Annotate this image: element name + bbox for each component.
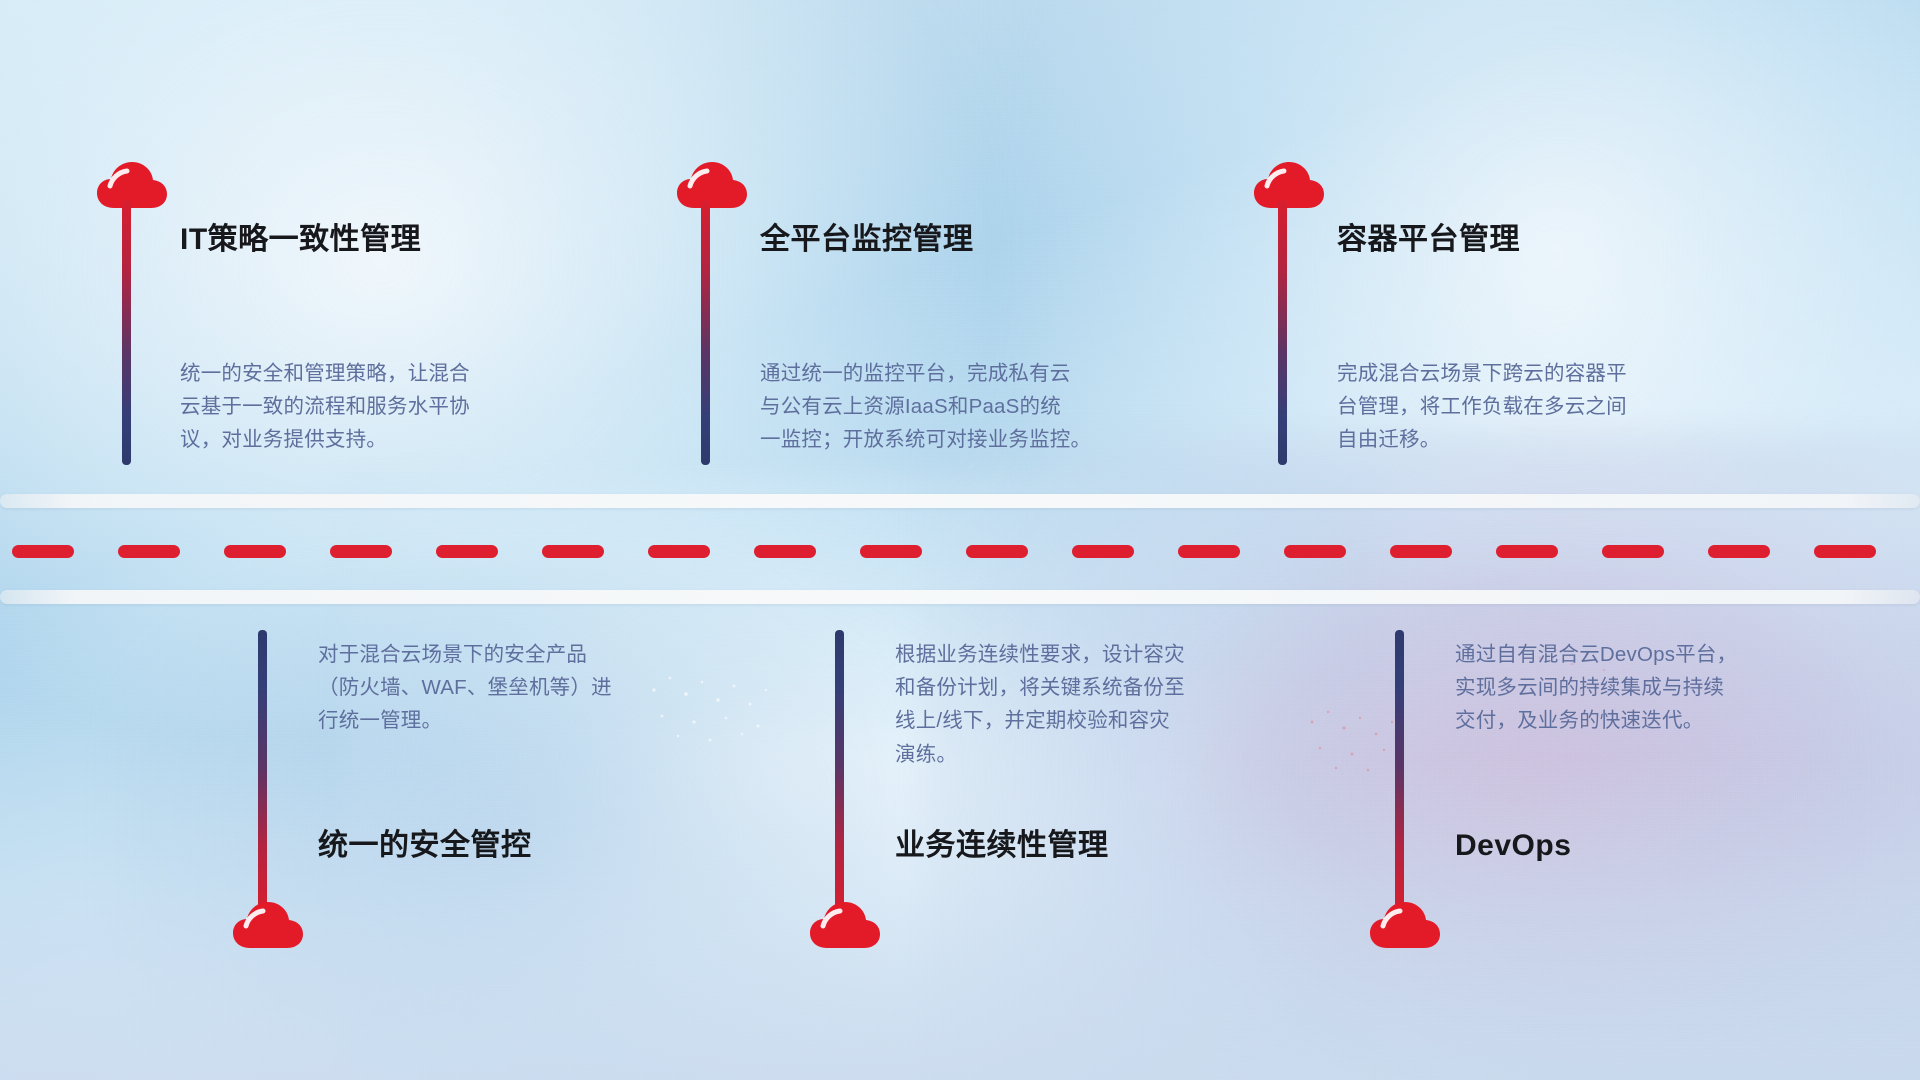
card-heading: DevOps bbox=[1455, 828, 1571, 864]
card-heading: 统一的安全管控 bbox=[318, 828, 532, 864]
infographic-canvas: IT策略一致性管理 统一的安全和管理策略，让混合 云基于一致的流程和服务水平协 … bbox=[0, 0, 1920, 1080]
road-dash bbox=[1178, 545, 1240, 558]
card-heading: 业务连续性管理 bbox=[895, 828, 1109, 864]
road-dash bbox=[1602, 545, 1664, 558]
road-edge-top bbox=[0, 494, 1920, 508]
card-body-text: 完成混合云场景下跨云的容器平 台管理，将工作负载在多云之间 自由迁移。 bbox=[1337, 357, 1777, 457]
card-body-text: 统一的安全和管理策略，让混合 云基于一致的流程和服务水平协 议，对业务提供支持。 bbox=[180, 357, 620, 457]
connector-stem bbox=[1278, 200, 1287, 465]
card-heading: 全平台监控管理 bbox=[760, 222, 974, 258]
connector-stem bbox=[1395, 630, 1404, 915]
cloud-icon bbox=[675, 160, 749, 212]
card-heading: 容器平台管理 bbox=[1337, 222, 1520, 258]
card-heading: IT策略一致性管理 bbox=[180, 222, 421, 258]
road-dash bbox=[1390, 545, 1452, 558]
road-dash bbox=[1284, 545, 1346, 558]
card-body-text: 对于混合云场景下的安全产品 （防火墙、WAF、堡垒机等）进 行统一管理。 bbox=[318, 638, 758, 738]
road-dash bbox=[754, 545, 816, 558]
road-dash bbox=[1072, 545, 1134, 558]
road-dash bbox=[330, 545, 392, 558]
road-dashed-centerline bbox=[0, 544, 1920, 558]
road-edge-bottom bbox=[0, 590, 1920, 604]
road-dash bbox=[860, 545, 922, 558]
road-dash bbox=[542, 545, 604, 558]
road-dash bbox=[436, 545, 498, 558]
card-body-text: 根据业务连续性要求，设计容灾 和备份计划，将关键系统备份至 线上/线下，并定期校… bbox=[895, 638, 1345, 771]
cloud-icon bbox=[1368, 900, 1442, 952]
connector-stem bbox=[701, 200, 710, 465]
road-dash bbox=[1708, 545, 1770, 558]
cloud-icon bbox=[95, 160, 169, 212]
road-dash bbox=[1814, 545, 1876, 558]
cloud-icon bbox=[1252, 160, 1326, 212]
road-dash bbox=[118, 545, 180, 558]
road-dash bbox=[966, 545, 1028, 558]
card-body-text: 通过自有混合云DevOps平台， 实现多云间的持续集成与持续 交付，及业务的快速… bbox=[1455, 638, 1885, 738]
road-dash bbox=[224, 545, 286, 558]
connector-stem bbox=[835, 630, 844, 915]
road-dash bbox=[12, 545, 74, 558]
connector-stem bbox=[258, 630, 267, 915]
cloud-icon bbox=[231, 900, 305, 952]
cloud-icon bbox=[808, 900, 882, 952]
road-dash bbox=[1496, 545, 1558, 558]
card-body-text: 通过统一的监控平台，完成私有云 与公有云上资源IaaS和PaaS的统 一监控；开… bbox=[760, 357, 1220, 457]
connector-stem bbox=[122, 200, 131, 465]
road-dash bbox=[648, 545, 710, 558]
